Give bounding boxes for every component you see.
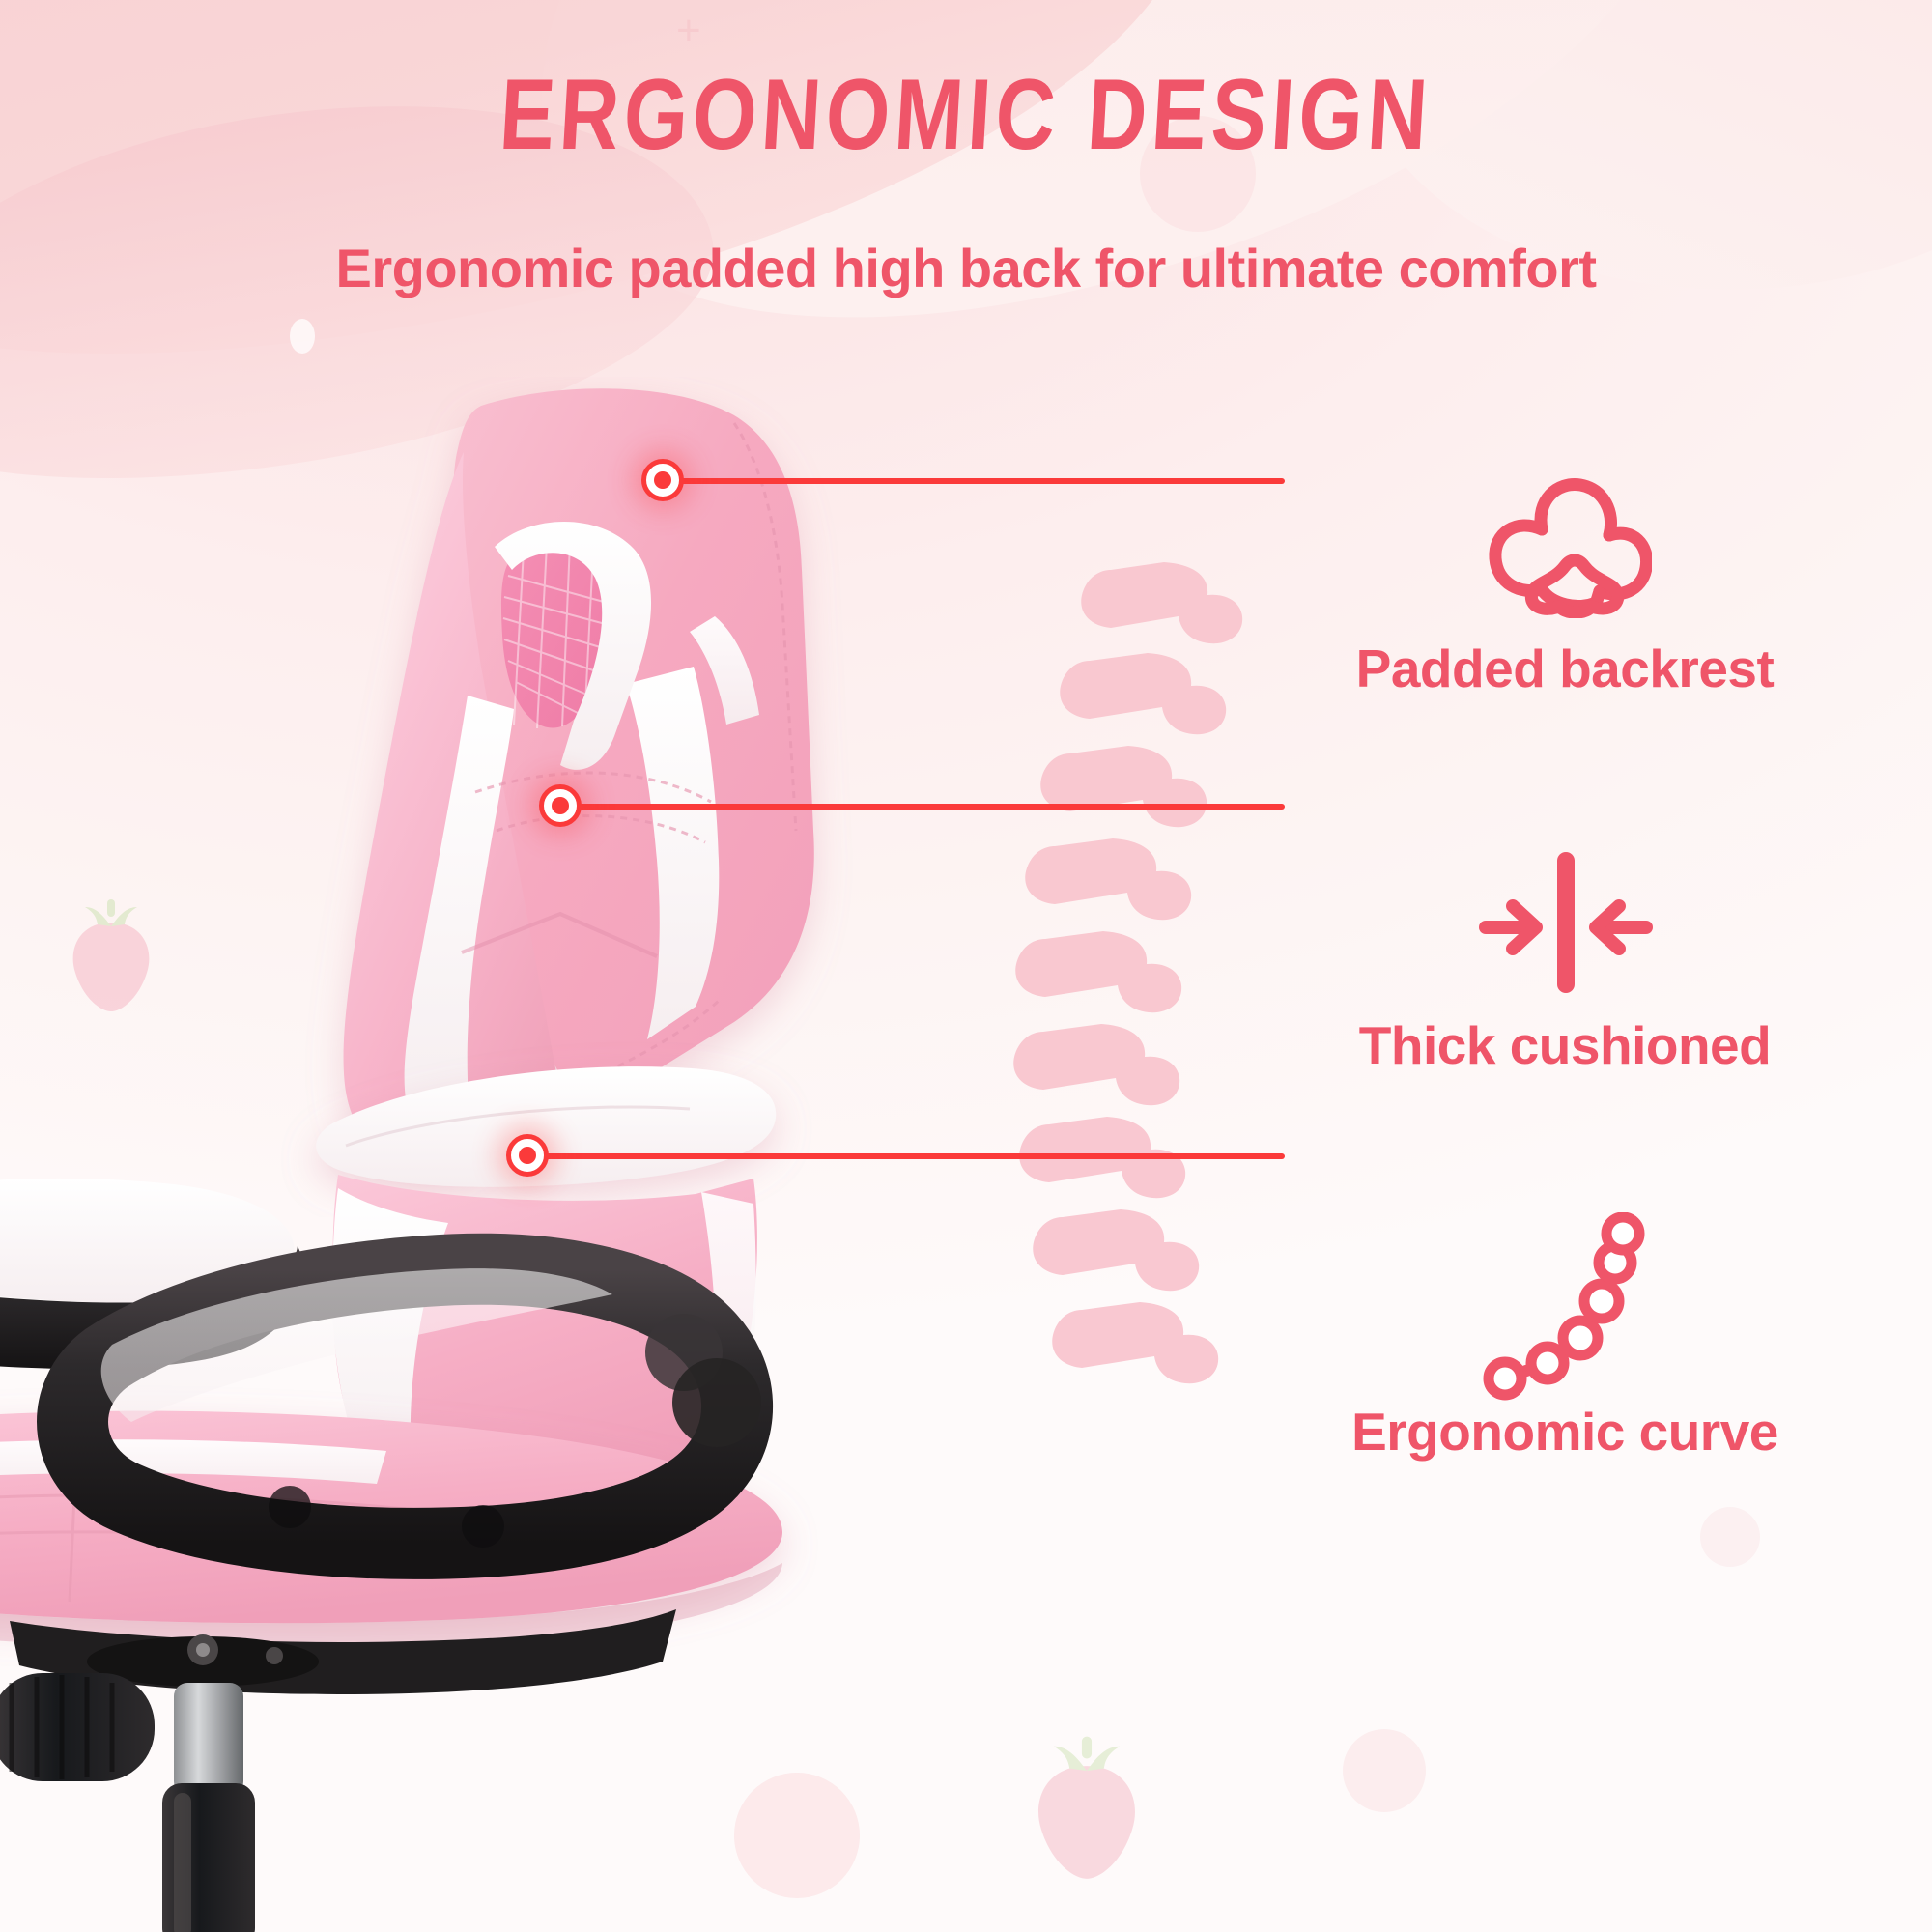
callout-line-thick-cushioned	[574, 804, 1285, 810]
feature-ergonomic-curve: Ergonomic curve	[1198, 1217, 1932, 1463]
infographic-canvas: +	[0, 0, 1932, 1932]
callout-dot-ergonomic-curve[interactable]	[506, 1134, 549, 1177]
page-title: ERGONOMIC DESIGN	[171, 58, 1762, 173]
feature-label: Padded backrest	[1198, 638, 1932, 699]
callout-dot-padded-backrest[interactable]	[641, 459, 684, 501]
background-circle-d	[1343, 1729, 1426, 1812]
thickness-arrows-icon	[1198, 831, 1932, 1014]
callout-line-padded-backrest	[676, 478, 1285, 484]
spine-curve-icon	[1198, 1217, 1932, 1401]
feature-label: Ergonomic curve	[1198, 1401, 1932, 1463]
callout-line-ergonomic-curve	[541, 1153, 1285, 1159]
cloud-cushion-icon	[1198, 454, 1932, 638]
feature-label: Thick cushioned	[1198, 1014, 1932, 1076]
strawberry-icon	[1019, 1729, 1154, 1889]
sparkle-icon: +	[676, 10, 701, 52]
feature-thick-cushioned: Thick cushioned	[1198, 831, 1932, 1076]
page-subtitle: Ergonomic padded high back for ultimate …	[0, 237, 1932, 299]
background-sparkle-dot	[290, 319, 315, 354]
feature-padded-backrest: Padded backrest	[1198, 454, 1932, 699]
callout-dot-thick-cushioned[interactable]	[539, 784, 582, 827]
background-circle-e	[1700, 1507, 1760, 1567]
